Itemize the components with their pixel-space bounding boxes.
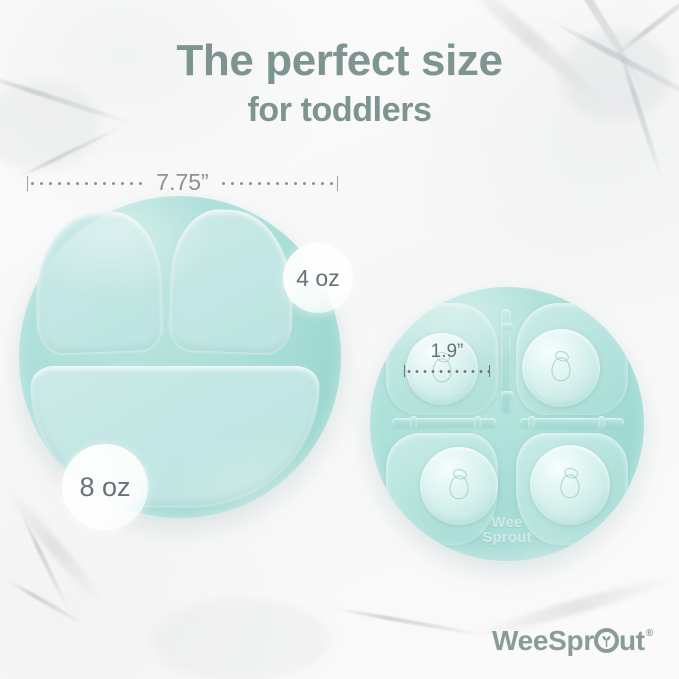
underside-horizontal-rib-right: [520, 418, 624, 427]
suction-valve-icon: [552, 357, 571, 381]
underside-rib-tick: [501, 391, 513, 398]
suction-cup-dimension-line: [404, 365, 490, 377]
dimension-dotted-line: [405, 370, 489, 373]
brand-name-after: ut: [619, 626, 645, 656]
suction-cup-width-dimension: 1.9”: [404, 341, 490, 377]
underside-rib-tick: [410, 416, 417, 429]
dimension-end-cap-right: [489, 365, 490, 377]
suction-cup-width-label: 1.9”: [404, 341, 490, 363]
headline-primary: The perfect size: [0, 36, 679, 86]
toddler-plate-underside-view: Wee Sprout: [370, 287, 644, 561]
underside-rib-tick: [598, 416, 605, 429]
embossed-brand-line2: Sprout: [482, 530, 532, 545]
embossed-brand-line1: Wee: [482, 515, 532, 530]
top-right-compartment: [169, 208, 296, 354]
marble-patch: [150, 600, 330, 679]
brand-logo: WeeSpr ut ®: [492, 626, 653, 656]
embossed-brand-mark: Wee Sprout: [482, 515, 532, 545]
capacity-badge-8oz: 8 oz: [62, 444, 148, 530]
suction-cup-bottom-left: [420, 447, 498, 525]
headline-secondary: for toddlers: [0, 90, 679, 130]
dimension-dotted-line-right: [219, 182, 337, 185]
dimension-dotted-line-left: [28, 182, 146, 185]
capacity-badge-4oz: 4 oz: [283, 243, 353, 313]
underside-rib-tick: [501, 323, 513, 330]
sprout-icon: [594, 628, 619, 653]
underside-rib-tick: [528, 416, 535, 429]
dimension-end-cap-right: [337, 176, 338, 191]
registered-trademark-symbol: ®: [646, 629, 653, 639]
plate-width-dimension-line: 7.75”: [27, 170, 338, 197]
product-marketing-image: The perfect size for toddlers 7.75”: [0, 0, 679, 679]
suction-cup-bottom-right: [530, 445, 610, 525]
suction-cup-top-right: [522, 329, 600, 407]
underside-rib-tick: [474, 416, 481, 429]
suction-valve-icon: [450, 475, 469, 499]
brand-name-before: WeeSpr: [492, 626, 594, 656]
suction-valve-icon: [561, 474, 580, 498]
plate-width-label: 7.75”: [146, 169, 218, 196]
